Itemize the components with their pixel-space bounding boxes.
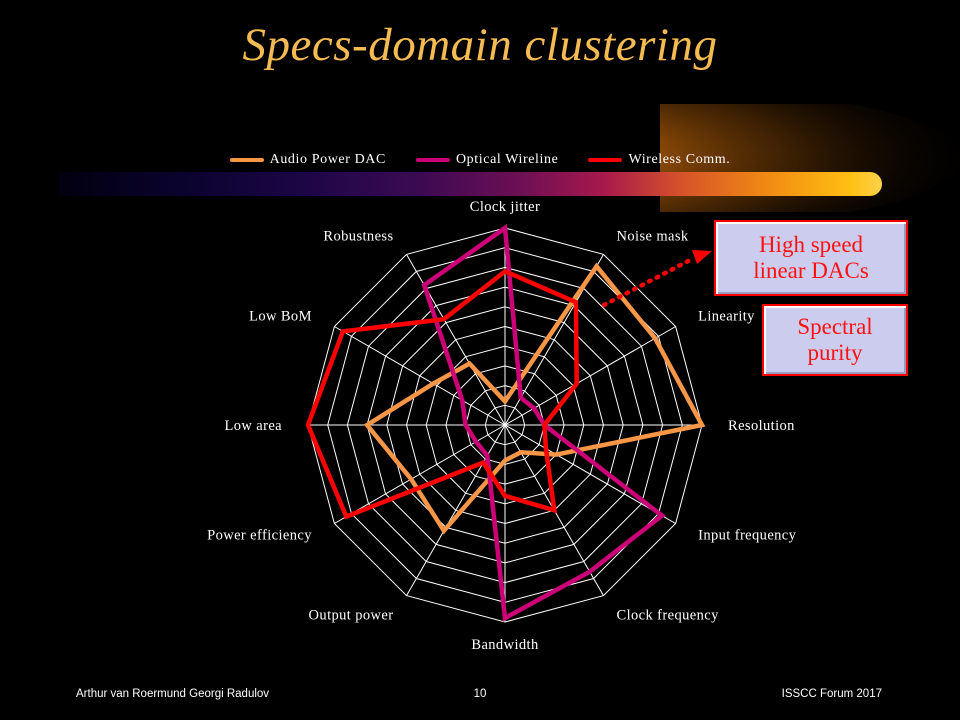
- radar-axis-label-resolution: Resolution: [728, 418, 795, 434]
- radar-axis-label-input-frequency: Input frequency: [698, 528, 797, 544]
- radar-series-audio-power-dac: [367, 266, 702, 531]
- radar-axis-label-bandwidth: Bandwidth: [471, 637, 539, 653]
- legend-swatch-audio-power-dac: [230, 158, 264, 162]
- legend-label-optical-wireline: Optical Wireline: [456, 152, 558, 168]
- radar-axis-label-robustness: Robustness: [323, 228, 393, 244]
- callout-spectral-purity[interactable]: Spectral purity: [762, 304, 908, 376]
- radar-axis-label-low-area: Low area: [224, 418, 282, 434]
- legend-label-audio-power-dac: Audio Power DAC: [270, 152, 386, 168]
- legend-item-optical-wireline: Optical Wireline: [416, 152, 558, 168]
- radar-axis-spoke: [505, 327, 676, 426]
- radar-axis-label-linearity: Linearity: [698, 309, 755, 325]
- legend-label-wireless-comm: Wireless Comm.: [628, 152, 730, 168]
- legend-item-wireless-comm: Wireless Comm.: [588, 152, 730, 168]
- callout-high-speed-line2: linear DACs: [716, 258, 906, 284]
- radar-axis-label-output-power: Output power: [309, 608, 394, 624]
- chart-legend: Audio Power DAC Optical Wireline Wireles…: [0, 152, 960, 168]
- page-title: Specs-domain clustering: [0, 18, 960, 72]
- slide-canvas: Specs-domain clustering Audio Power DAC …: [0, 0, 960, 720]
- radar-axis-label-power-efficiency: Power efficiency: [207, 528, 312, 544]
- callout-spectral-line2: purity: [764, 340, 906, 366]
- footer-event: ISSCC Forum 2017: [782, 688, 882, 700]
- callout-high-speed-linear-dacs[interactable]: High speed linear DACs: [714, 220, 908, 296]
- radar-axis-spoke: [407, 425, 506, 596]
- radar-axis-label-clock-frequency: Clock frequency: [617, 608, 720, 624]
- radar-axis-spoke: [407, 254, 506, 425]
- legend-item-audio-power-dac: Audio Power DAC: [230, 152, 386, 168]
- slide-footer: Arthur van Roermund Georgi Radulov 10 IS…: [0, 688, 960, 704]
- callout-high-speed-line1: High speed: [716, 232, 906, 258]
- radar-axis-label-low-bom: Low BoM: [249, 309, 312, 325]
- legend-swatch-optical-wireline: [416, 158, 450, 162]
- radar-axis-spoke: [334, 425, 505, 524]
- radar-axis-label-clock-jitter: Clock jitter: [470, 199, 540, 215]
- legend-swatch-wireless-comm: [588, 158, 622, 162]
- callout-spectral-line1: Spectral: [764, 314, 906, 340]
- radar-axis-label-noise-mask: Noise mask: [617, 228, 689, 244]
